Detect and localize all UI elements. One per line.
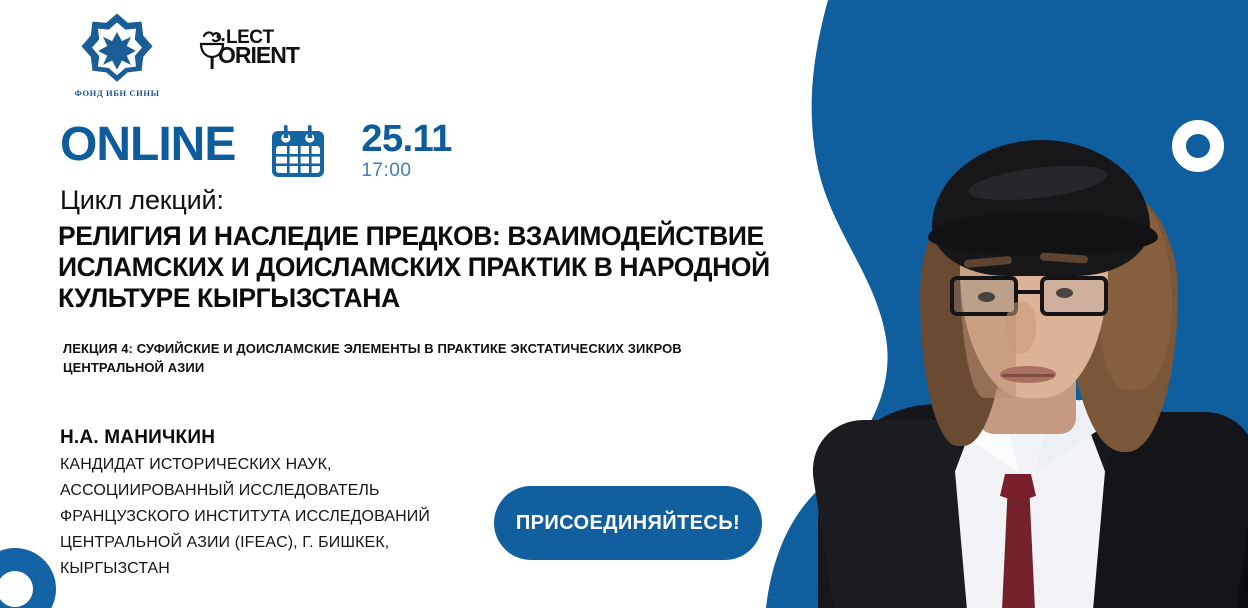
portrait-lens-right [1040, 276, 1108, 316]
speaker-bio: КАНДИДАТ ИСТОРИЧЕСКИХ НАУК, АССОЦИИРОВАН… [60, 452, 480, 582]
portrait-tie [1002, 498, 1035, 608]
white-ring-shape [1172, 120, 1224, 172]
series-kicker: Цикл лекций: [60, 186, 224, 214]
eight-pointed-star-icon [78, 12, 156, 86]
event-date: 25.11 [361, 120, 452, 158]
lecture-subtitle: ЛЕКЦИЯ 4: СУФИЙСКИЕ И ДОИСЛАМСКИЕ ЭЛЕМЕН… [63, 340, 753, 378]
event-time: 17:00 [361, 160, 452, 182]
blue-ring-shape [0, 548, 56, 608]
portrait-nose [1006, 302, 1036, 354]
lect-orient-logo[interactable]: LECT ORIENT [196, 28, 306, 82]
ibn-sina-fund-logo: ФОНД ИБН СИНЫ [62, 12, 172, 98]
event-poster: ФОНД ИБН СИНЫ LECT ORIENT ONLINE [0, 0, 1248, 608]
event-meta-row: ONLINE 25.11 [60, 122, 452, 185]
ibn-sina-fund-caption: ФОНД ИБН СИНЫ [62, 88, 172, 98]
speaker-name: Н.А. МАНИЧКИН [60, 427, 215, 449]
calendar-icon-wrap [269, 124, 327, 185]
event-date-block: 25.11 17:00 [361, 120, 452, 182]
calendar-icon [269, 124, 327, 180]
format-label: ONLINE [60, 122, 235, 167]
speaker-portrait [800, 0, 1248, 608]
lecture-series-title: РЕЛИГИЯ И НАСЛЕДИЕ ПРЕДКОВ: ВЗАИМОДЕЙСТВ… [58, 221, 848, 314]
portrait-glasses-bridge [1018, 290, 1040, 294]
portrait-lip-line [1002, 374, 1054, 377]
join-button[interactable]: ПРИСОЕДИНЯЙТЕСЬ! [494, 486, 762, 560]
lect-orient-line2: ORIENT [218, 46, 299, 65]
portrait-hat-brim [928, 212, 1158, 256]
lect-orient-wordmark: LECT ORIENT [226, 30, 299, 65]
logo-bar: ФОНД ИБН СИНЫ LECT ORIENT [62, 12, 306, 98]
portrait-suit-lapel-left [804, 420, 986, 608]
